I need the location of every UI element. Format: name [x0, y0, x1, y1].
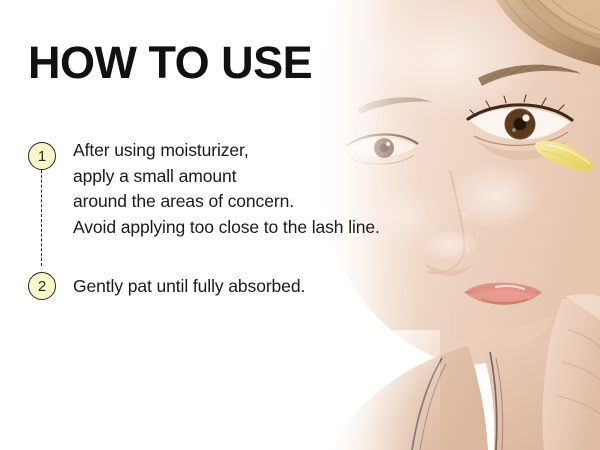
step-connector-dashed-line: [41, 170, 42, 266]
step-number-badge-2: 2: [28, 272, 56, 300]
content-column: HOW TO USE 1 After using moisturizer, ap…: [0, 0, 470, 450]
step-text-1: After using moisturizer, apply a small a…: [73, 138, 380, 240]
step-item-2: 2 Gently pat until fully absorbed.: [28, 268, 448, 300]
page-title: HOW TO USE: [28, 40, 312, 85]
steps-list: 1 After using moisturizer, apply a small…: [28, 138, 448, 300]
step-item-1: 1 After using moisturizer, apply a small…: [28, 138, 448, 240]
how-to-use-banner: HOW TO USE 1 After using moisturizer, ap…: [0, 0, 600, 450]
step-text-2: Gently pat until fully absorbed.: [73, 274, 305, 300]
step-number-badge-1: 1: [28, 142, 56, 170]
